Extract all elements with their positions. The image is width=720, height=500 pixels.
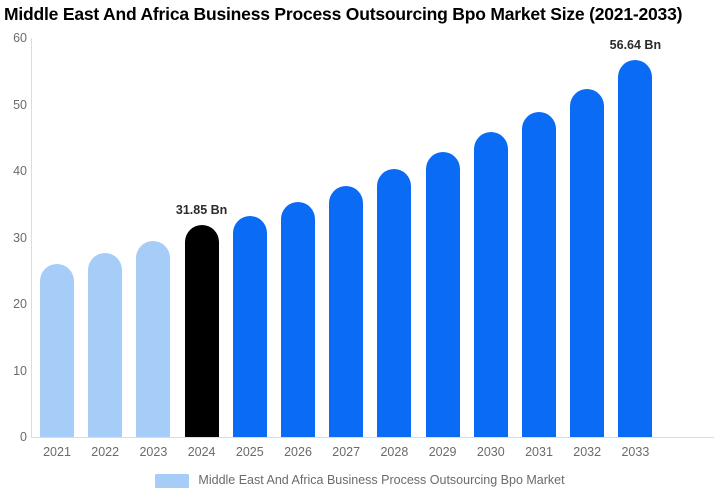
bar-2021[interactable] [40,264,74,437]
x-axis-tick-label-2033: 2033 [610,445,660,460]
bar-group[interactable] [474,38,508,437]
bar-2031[interactable] [522,112,556,437]
x-axis-tick-label-2032: 2032 [562,445,612,460]
bar-2024[interactable] [185,225,219,437]
x-axis-tick-label-2031: 2031 [514,445,564,460]
bar-chart: Middle East And Africa Business Process … [0,0,720,500]
bar-group[interactable] [281,38,315,437]
bar-2028[interactable] [377,169,411,437]
bar-2022[interactable] [88,253,122,437]
bar-group[interactable] [233,38,267,437]
x-axis-tick-label-2023: 2023 [128,445,178,460]
y-axis-tick-label: 40 [3,164,27,178]
bar-group[interactable] [88,38,122,437]
y-axis-tick-label: 50 [3,98,27,112]
y-axis-tick-label: 20 [3,297,27,311]
plot-area: 31.85 Bn56.64 Bn [31,38,714,437]
x-axis-tick-label-2022: 2022 [80,445,130,460]
bar-2033[interactable] [618,60,652,437]
bar-2026[interactable] [281,202,315,437]
bar-2023[interactable] [136,241,170,437]
bar-group[interactable]: 56.64 Bn [618,38,652,437]
y-axis-tick-label: 10 [3,364,27,378]
bar-2027[interactable] [329,186,363,437]
y-axis-tick-label: 30 [3,231,27,245]
bar-2030[interactable] [474,132,508,437]
bar-group[interactable] [426,38,460,437]
bar-group[interactable] [377,38,411,437]
bar-group[interactable] [40,38,74,437]
legend-label: Middle East And Africa Business Process … [198,473,564,488]
bar-group[interactable] [570,38,604,437]
bar-2025[interactable] [233,216,267,437]
bar-value-label-2024: 31.85 Bn [176,203,227,217]
x-axis-tick-label-2029: 2029 [418,445,468,460]
x-axis-tick-label-2028: 2028 [369,445,419,460]
chart-legend: Middle East And Africa Business Process … [0,473,720,488]
x-axis-tick-label-2030: 2030 [466,445,516,460]
y-axis-tick-label: 60 [3,31,27,45]
bar-group[interactable] [329,38,363,437]
legend-swatch [155,474,189,488]
x-axis-tick-label-2024: 2024 [177,445,227,460]
bar-2029[interactable] [426,152,460,437]
x-axis-tick-label-2026: 2026 [273,445,323,460]
bar-group[interactable] [522,38,556,437]
bar-value-label-2033: 56.64 Bn [610,38,661,52]
x-axis-tick-label-2021: 2021 [32,445,82,460]
y-axis-tick-label: 0 [3,430,27,444]
bar-group[interactable] [136,38,170,437]
x-axis-tick-label-2027: 2027 [321,445,371,460]
bar-group[interactable]: 31.85 Bn [185,38,219,437]
x-axis-tick-label-2025: 2025 [225,445,275,460]
x-axis-line [31,437,714,438]
bar-2032[interactable] [570,89,604,437]
y-axis: 0102030405060 [0,0,27,500]
chart-title: Middle East And Africa Business Process … [4,2,720,26]
